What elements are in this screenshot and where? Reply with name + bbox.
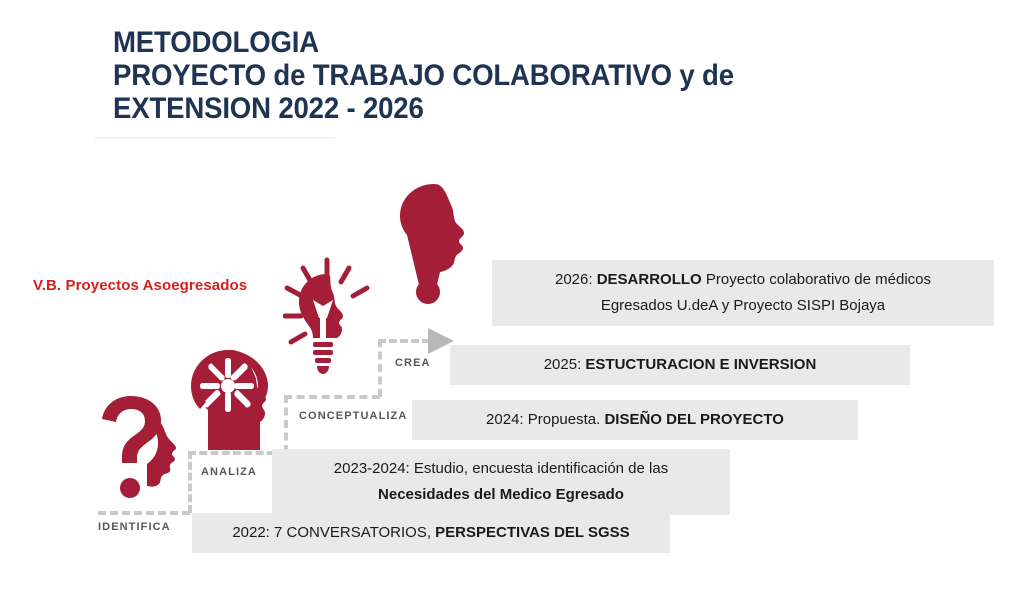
annotation-proyectos-asoegresados: V.B. Proyectos Asoegresados	[33, 277, 247, 294]
step-label-conceptualiza: CONCEPTUALIZA	[299, 410, 407, 422]
milestone-2023-line-1: 2023-2024: Estudio, encuesta identificac…	[286, 456, 716, 482]
question-head-icon	[98, 392, 184, 504]
gear-head-icon	[188, 348, 284, 452]
step-label-crea: CREA	[395, 357, 431, 369]
milestone-2026-line-1: 2026: DESARROLLO Proyecto colaborativo d…	[506, 267, 980, 293]
connector-identifica-horizontal	[98, 511, 190, 515]
milestone-box-2026[interactable]: 2026: DESARROLLO Proyecto colaborativo d…	[492, 260, 994, 326]
title-line-1: METODOLOGIA	[113, 26, 904, 59]
title-divider	[95, 137, 335, 139]
step-label-identifica: IDENTIFICA	[98, 521, 171, 533]
connector-conceptualiza-vertical	[284, 395, 288, 453]
milestone-2026-line-2: Egresados U.deA y Proyecto SISPI Bojaya	[506, 293, 980, 319]
milestone-2024-line-1: 2024: Propuesta. DISEÑO DEL PROYECTO	[426, 407, 844, 433]
page-title: METODOLOGIA PROYECTO de TRABAJO COLABORA…	[113, 26, 973, 125]
lightbulb-head-icon	[283, 256, 379, 380]
connector-conceptualiza-horizontal	[284, 395, 380, 399]
milestone-2023-line-2: Necesidades del Medico Egresado	[286, 482, 716, 508]
connector-analiza-vertical	[188, 451, 192, 513]
milestone-2022-line-1: 2022: 7 CONVERSATORIOS, PERSPECTIVAS DEL…	[206, 520, 656, 546]
step-label-analiza: ANALIZA	[201, 466, 257, 478]
connector-crea-horizontal	[378, 339, 430, 343]
exclamation-head-icon	[398, 182, 476, 308]
milestone-box-2022[interactable]: 2022: 7 CONVERSATORIOS, PERSPECTIVAS DEL…	[192, 513, 670, 553]
slide-canvas: METODOLOGIA PROYECTO de TRABAJO COLABORA…	[0, 0, 1024, 603]
title-line-2: PROYECTO de TRABAJO COLABORATIVO y de	[113, 59, 904, 92]
title-line-3: EXTENSION 2022 - 2026	[113, 92, 904, 125]
milestone-box-2024[interactable]: 2024: Propuesta. DISEÑO DEL PROYECTO	[412, 400, 858, 440]
milestone-2025-line-1: 2025: ESTUCTURACION E INVERSION	[464, 352, 896, 378]
milestone-box-2023[interactable]: 2023-2024: Estudio, encuesta identificac…	[272, 449, 730, 515]
milestone-box-2025[interactable]: 2025: ESTUCTURACION E INVERSION	[450, 345, 910, 385]
